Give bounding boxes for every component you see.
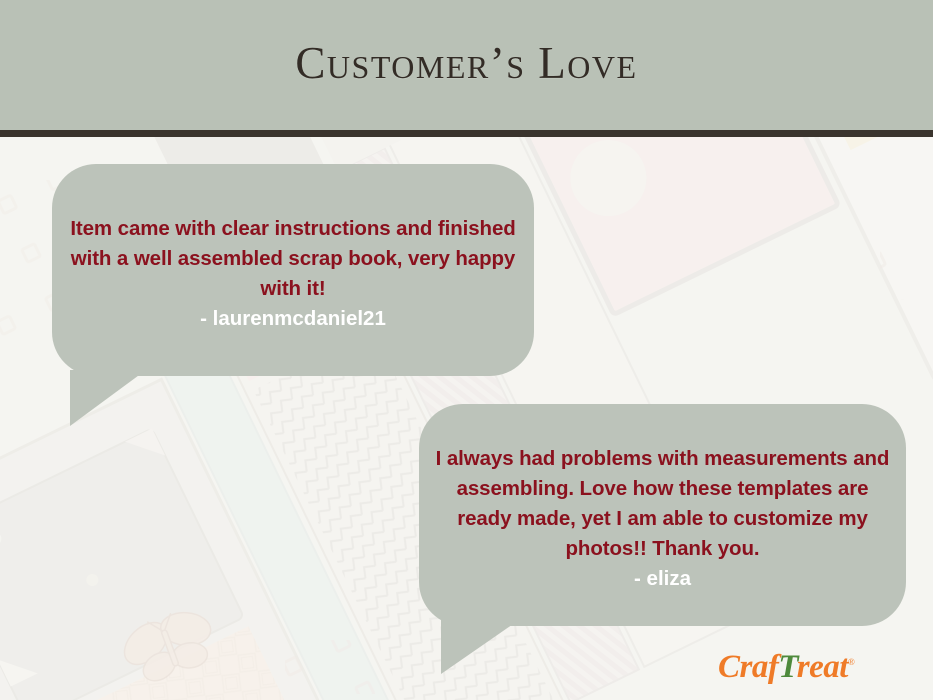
logo-trademark: ®	[848, 657, 854, 667]
logo-wordmark: CrafTreat®	[718, 649, 854, 685]
testimonial-bubble-2: I always had problems with measurements …	[419, 404, 906, 626]
testimonial-author-1: - laurenmcdaniel21	[200, 305, 386, 333]
testimonial-quote-2: I always had problems with measurements …	[428, 444, 898, 564]
testimonial-bubble-2-body: I always had problems with measurements …	[419, 404, 906, 626]
header-band: Customer’s Love	[0, 0, 933, 130]
logo-part-craf: Craf	[718, 649, 778, 685]
page-title: Customer’s Love	[295, 41, 637, 90]
speech-bubble-tail-icon	[70, 370, 146, 428]
testimonial-bubble-1: Item came with clear instructions and fi…	[52, 164, 534, 376]
logo-part-t: T	[778, 649, 796, 685]
logo-part-reat: reat	[797, 649, 848, 685]
header-divider-rule	[0, 130, 933, 137]
testimonial-bubble-1-body: Item came with clear instructions and fi…	[52, 164, 534, 376]
speech-bubble-tail-icon	[441, 620, 519, 676]
slide-canvas: Customer’s Love Item came with clear ins…	[0, 0, 933, 700]
craftreat-logo: CrafTreat®	[718, 640, 858, 686]
testimonial-author-2: - eliza	[634, 565, 691, 593]
testimonial-quote-1: Item came with clear instructions and fi…	[67, 214, 519, 304]
